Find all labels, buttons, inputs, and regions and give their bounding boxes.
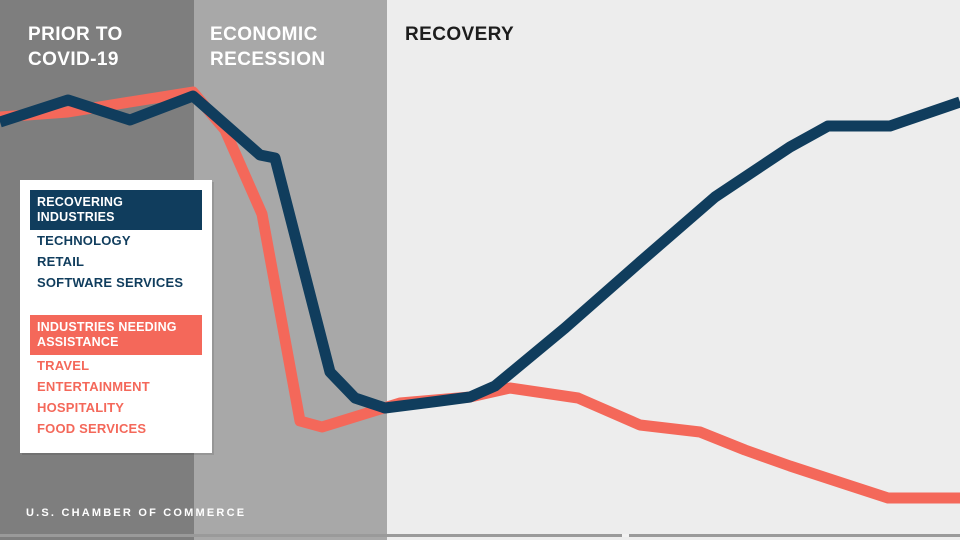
bottom-rule bbox=[0, 534, 960, 537]
legend-header-industries-needing-assistance: INDUSTRIES NEEDING ASSISTANCE bbox=[30, 315, 202, 355]
infographic-canvas: PRIOR TO COVID-19 ECONOMIC RECESSION REC… bbox=[0, 0, 960, 540]
legend-item: TRAVEL bbox=[30, 355, 202, 376]
legend-item: HOSPITALITY bbox=[30, 397, 202, 418]
legend-header-recovering-industries: RECOVERING INDUSTRIES bbox=[30, 190, 202, 230]
bottom-rule-notch bbox=[622, 534, 629, 537]
legend-item: RETAIL bbox=[30, 251, 202, 272]
legend-items-recovering-industries: TECHNOLOGY RETAIL SOFTWARE SERVICES bbox=[30, 230, 202, 293]
legend-item: FOOD SERVICES bbox=[30, 418, 202, 439]
legend-item: TECHNOLOGY bbox=[30, 230, 202, 251]
legend-item: ENTERTAINMENT bbox=[30, 376, 202, 397]
legend-item: SOFTWARE SERVICES bbox=[30, 272, 202, 293]
legend-items-industries-needing-assistance: TRAVEL ENTERTAINMENT HOSPITALITY FOOD SE… bbox=[30, 355, 202, 439]
source-attribution: U.S. CHAMBER OF COMMERCE bbox=[26, 507, 246, 519]
legend-spacer bbox=[30, 293, 202, 315]
chart-legend: RECOVERING INDUSTRIES TECHNOLOGY RETAIL … bbox=[20, 180, 212, 453]
